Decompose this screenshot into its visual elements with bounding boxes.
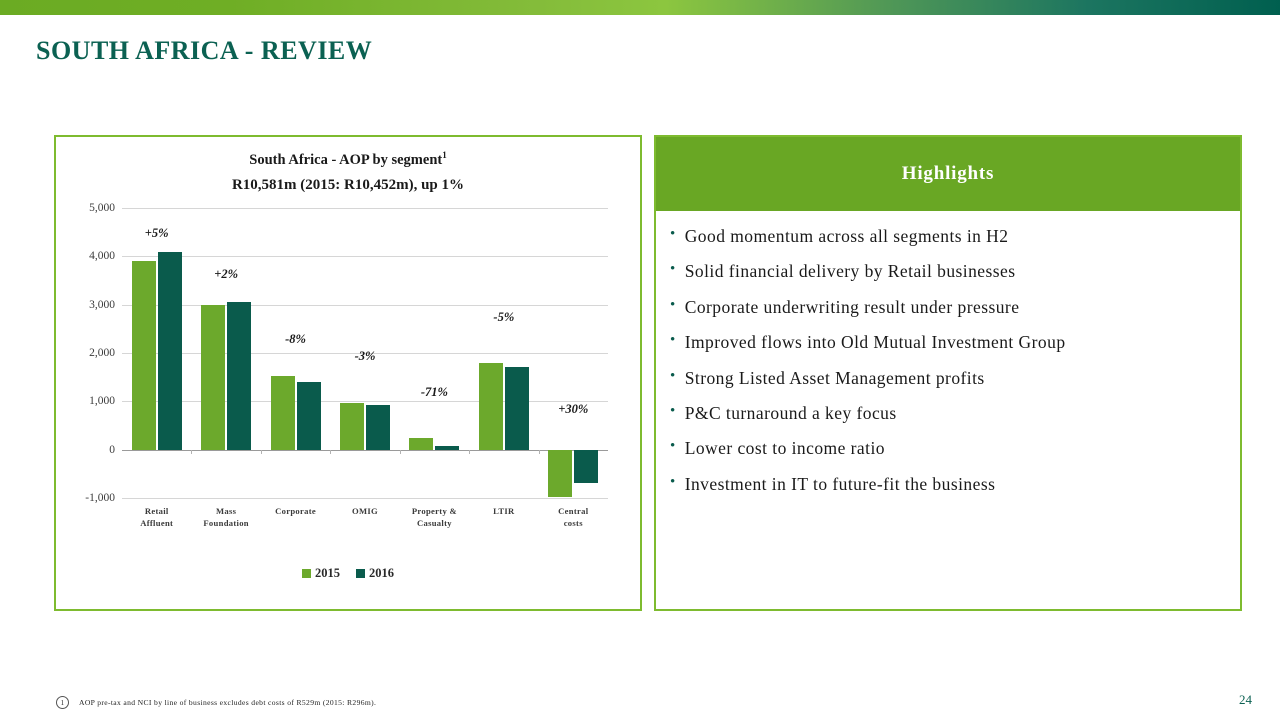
highlight-item: •Good momentum across all segments in H2 <box>670 225 1222 247</box>
brand-gradient-bar <box>0 0 1280 15</box>
chart-panel: South Africa - AOP by segment1 R10,581m … <box>54 135 642 611</box>
bar-change-label: -8% <box>285 332 306 347</box>
y-axis-tick-label: 2,000 <box>89 347 115 359</box>
x-axis-tick <box>330 450 331 454</box>
x-axis-category-label: Corporate <box>275 506 316 518</box>
chart-title-footnote-marker: 1 <box>442 150 447 160</box>
bar-chart-plot-area: 5,0004,0003,0002,0001,0000-1,000+5%Retai… <box>122 208 608 498</box>
x-axis-category-label: LTIR <box>493 506 514 518</box>
bullet-icon: • <box>670 296 676 315</box>
y-axis-tick-label: 0 <box>109 444 115 456</box>
legend-swatch-2016 <box>356 569 365 578</box>
legend-label-2015: 2015 <box>315 566 340 581</box>
highlight-item: •Strong Listed Asset Management profits <box>670 367 1222 389</box>
bar-change-label: +30% <box>558 402 588 417</box>
highlight-item: •Investment in IT to future-fit the busi… <box>670 473 1222 495</box>
highlight-item: •Improved flows into Old Mutual Investme… <box>670 331 1222 353</box>
bullet-icon: • <box>670 473 676 492</box>
chart-title-text: South Africa - AOP by segment <box>249 152 442 168</box>
y-axis-tick-label: 4,000 <box>89 250 115 262</box>
bullet-icon: • <box>670 331 676 350</box>
bar-2016-omig <box>366 405 390 450</box>
x-axis-tick <box>539 450 540 454</box>
legend-swatch-2015 <box>302 569 311 578</box>
chart-legend: 2015 2016 <box>56 566 640 581</box>
bar-change-label: -5% <box>493 310 514 325</box>
legend-label-2016: 2016 <box>369 566 394 581</box>
x-axis-category-label: Mass Foundation <box>203 506 249 529</box>
bullet-icon: • <box>670 260 676 279</box>
y-axis-tick-label: 1,000 <box>89 395 115 407</box>
x-axis-tick <box>400 450 401 454</box>
highlight-text: Good momentum across all segments in H2 <box>685 225 1222 247</box>
bar-change-label: -71% <box>421 385 448 400</box>
highlights-list: •Good momentum across all segments in H2… <box>656 211 1240 495</box>
footnote-marker: 1 <box>56 696 69 709</box>
bar-2016-ltir <box>505 367 529 450</box>
bar-2015-omig <box>340 403 364 449</box>
highlight-item: •Lower cost to income ratio <box>670 437 1222 459</box>
bar-2015-massfoundation <box>201 305 225 450</box>
footnote: 1 AOP pre-tax and NCI by line of busines… <box>56 696 376 709</box>
highlight-text: Corporate underwriting result under pres… <box>685 296 1222 318</box>
highlights-header: Highlights <box>656 137 1240 211</box>
highlight-text: Lower cost to income ratio <box>685 437 1222 459</box>
x-axis-tick <box>469 450 470 454</box>
gridline <box>122 498 608 499</box>
bar-2016-retailaffluent <box>158 252 182 450</box>
highlight-text: Solid financial delivery by Retail busin… <box>685 260 1222 282</box>
highlight-item: •Corporate underwriting result under pre… <box>670 296 1222 318</box>
bar-2015-propertycasualty <box>409 438 433 450</box>
highlight-text: P&C turnaround a key focus <box>685 402 1222 424</box>
x-axis-category-label: OMIG <box>352 506 378 518</box>
bar-2015-corporate <box>271 376 295 449</box>
highlight-text: Improved flows into Old Mutual Investmen… <box>685 331 1222 353</box>
bar-change-label: +5% <box>145 226 169 241</box>
legend-item-2016: 2016 <box>356 566 394 581</box>
bar-2016-centralcosts <box>574 450 598 483</box>
highlight-text: Investment in IT to future-fit the busin… <box>685 473 1222 495</box>
bullet-icon: • <box>670 437 676 456</box>
bullet-icon: • <box>670 402 676 421</box>
x-axis-tick <box>191 450 192 454</box>
y-axis-tick-label: -1,000 <box>85 492 115 504</box>
bar-2016-propertycasualty <box>435 446 459 449</box>
gridline <box>122 208 608 209</box>
highlight-item: •Solid financial delivery by Retail busi… <box>670 260 1222 282</box>
footnote-text: AOP pre-tax and NCI by line of business … <box>79 698 376 707</box>
x-axis-tick <box>261 450 262 454</box>
bar-change-label: -3% <box>355 349 376 364</box>
bar-2015-centralcosts <box>548 450 572 497</box>
chart-subtitle: R10,581m (2015: R10,452m), up 1% <box>56 177 640 194</box>
gridline <box>122 256 608 257</box>
bar-change-label: +2% <box>214 267 238 282</box>
page-number: 24 <box>1239 692 1252 708</box>
highlight-item: •P&C turnaround a key focus <box>670 402 1222 424</box>
bar-2016-corporate <box>297 382 321 450</box>
chart-title: South Africa - AOP by segment1 <box>56 150 640 169</box>
gridline <box>122 401 608 402</box>
gridline <box>122 305 608 306</box>
x-axis-category-label: Central costs <box>558 506 588 529</box>
x-axis-category-label: Retail Affluent <box>140 506 173 529</box>
x-axis-category-label: Property & Casualty <box>412 506 457 529</box>
bar-2015-retailaffluent <box>132 261 156 450</box>
bar-2015-ltir <box>479 363 503 450</box>
bullet-icon: • <box>670 367 676 386</box>
page-title: SOUTH AFRICA - REVIEW <box>36 36 372 66</box>
legend-item-2015: 2015 <box>302 566 340 581</box>
highlights-panel: Highlights •Good momentum across all seg… <box>654 135 1242 611</box>
y-axis-tick-label: 3,000 <box>89 299 115 311</box>
axis-zero-line <box>122 450 608 451</box>
y-axis-tick-label: 5,000 <box>89 202 115 214</box>
bar-2016-massfoundation <box>227 302 251 450</box>
bullet-icon: • <box>670 225 676 244</box>
highlight-text: Strong Listed Asset Management profits <box>685 367 1222 389</box>
